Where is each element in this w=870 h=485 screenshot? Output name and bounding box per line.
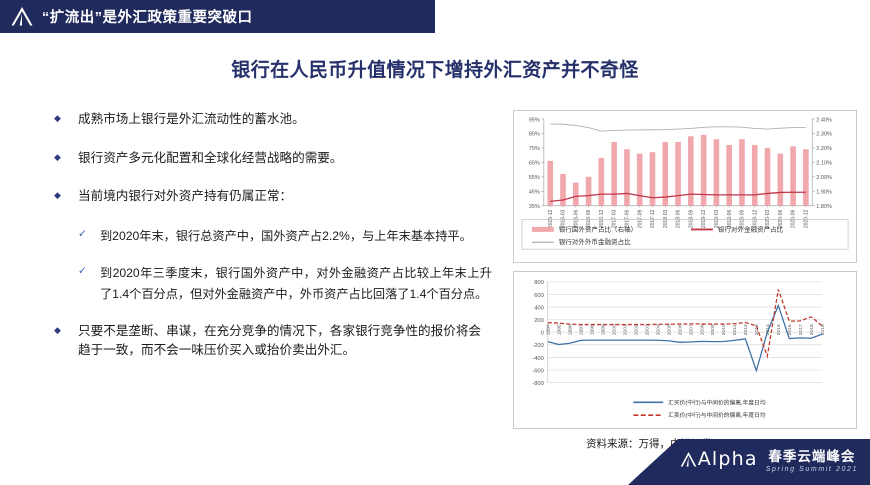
svg-text:45%: 45% <box>529 190 540 196</box>
svg-text:2017-09: 2017-09 <box>637 210 643 229</box>
chart-fx-spread-deviation: -800-600-400-200020040060080019941995199… <box>513 271 857 429</box>
chart-bottom-svg: -800-600-400-200020040060080019941995199… <box>514 272 856 428</box>
svg-text:-800: -800 <box>532 381 544 387</box>
footer-wordmark-text: Alpha <box>698 448 758 470</box>
svg-text:2017-03: 2017-03 <box>612 210 618 229</box>
footer-wordmark: Alpha <box>680 448 758 470</box>
svg-text:2016-12: 2016-12 <box>599 210 605 229</box>
svg-text:1.90%: 1.90% <box>816 190 832 196</box>
sub-list: ✓ 到2020年末，银行总资产中，国外资产占2.2%，与上年末基本持平。 ✓ 到… <box>78 226 492 306</box>
svg-text:1996: 1996 <box>568 324 574 335</box>
list-item-text: 银行资产多元化配置和全球化经营战略的需要。 <box>78 149 492 169</box>
svg-text:2015: 2015 <box>776 324 782 335</box>
svg-text:600: 600 <box>534 293 544 299</box>
svg-text:银行国外资产占比（右轴）: 银行国外资产占比（右轴） <box>559 224 637 233</box>
svg-text:85%: 85% <box>529 132 540 138</box>
sub-list-item: ✓ 到2020年三季度末，银行国外资产中，对外金融资产占比较上年末上升了1.4个… <box>78 263 492 306</box>
list-item: ◆ 成熟市场上银行是外汇流动性的蓄水池。 <box>52 110 492 130</box>
svg-text:2006: 2006 <box>677 324 683 335</box>
svg-text:1999: 1999 <box>600 324 606 335</box>
bullet-diamond-icon: ◆ <box>52 149 78 166</box>
svg-text:2020-09: 2020-09 <box>791 210 797 229</box>
svg-text:400: 400 <box>534 305 544 311</box>
svg-text:75%: 75% <box>529 146 540 152</box>
list-item: ◆ 只要不是垄断、串谋，在充分竞争的情况下，各家银行竞争性的报价将会趋于一致，而… <box>52 322 492 361</box>
list-item: ◆ 当前境内银行对外资产持有仍属正常： <box>52 187 492 207</box>
svg-text:汇卖价(中行)与中间价的偏离,年度日均: 汇卖价(中行)与中间价的偏离,年度日均 <box>668 411 766 419</box>
sub-list-item-text: 到2020年三季度末，银行国外资产中，对外金融资产占比较上年末上升了1.4个百分… <box>100 263 492 306</box>
svg-text:2009: 2009 <box>710 324 716 335</box>
svg-text:银行对外金融资产占比: 银行对外金融资产占比 <box>718 224 784 233</box>
chart-top-svg: 35%45%55%65%75%85%95%1.80%1.90%2.00%2.10… <box>514 111 856 262</box>
footer-cn-text: 春季云端峰会 <box>768 445 855 465</box>
bullet-diamond-icon: ◆ <box>52 187 78 204</box>
check-icon: ✓ <box>78 263 100 280</box>
page-title: 银行在人民币升值情况下增持外汇资产并不奇怪 <box>0 55 870 82</box>
header-title: “扩流出”是外汇政策重要突破口 <box>42 6 253 27</box>
svg-text:1998: 1998 <box>589 324 595 335</box>
svg-text:-200: -200 <box>532 343 544 349</box>
svg-text:2016: 2016 <box>787 324 793 335</box>
svg-text:2018-03: 2018-03 <box>663 210 669 229</box>
brand-logo-icon <box>0 0 42 33</box>
svg-text:2015-12: 2015-12 <box>548 210 554 229</box>
svg-text:2013: 2013 <box>754 324 760 335</box>
svg-text:2017-06: 2017-06 <box>624 210 630 229</box>
svg-text:2.00%: 2.00% <box>816 175 832 181</box>
svg-text:200: 200 <box>534 318 544 324</box>
svg-text:2012: 2012 <box>743 324 749 335</box>
svg-text:-600: -600 <box>532 368 544 374</box>
check-icon: ✓ <box>78 226 100 243</box>
sub-list-item: ✓ 到2020年末，银行总资产中，国外资产占2.2%，与上年末基本持平。 <box>78 226 492 247</box>
footer-en-text: Spring Summit 2021 <box>766 466 858 473</box>
svg-text:55%: 55% <box>529 175 540 181</box>
list-item-text: 只要不是垄断、串谋，在充分竞争的情况下，各家银行竞争性的报价将会趋于一致，而不会… <box>78 322 492 361</box>
svg-text:2005: 2005 <box>666 324 672 335</box>
svg-text:2007: 2007 <box>688 324 694 335</box>
svg-text:2016-06: 2016-06 <box>573 210 579 229</box>
svg-text:2.20%: 2.20% <box>816 146 832 152</box>
chart-bank-foreign-assets: 35%45%55%65%75%85%95%1.80%1.90%2.00%2.10… <box>513 110 857 263</box>
footer-brand: Alpha 春季云端峰会 Spring Summit 2021 <box>570 439 870 485</box>
svg-text:2004: 2004 <box>655 324 661 335</box>
svg-text:2020-12: 2020-12 <box>803 210 809 229</box>
svg-text:2.10%: 2.10% <box>816 161 832 167</box>
svg-text:1995: 1995 <box>557 324 563 335</box>
svg-text:2.40%: 2.40% <box>816 117 832 123</box>
svg-text:2019: 2019 <box>820 324 826 335</box>
svg-text:-400: -400 <box>532 356 544 362</box>
svg-text:2014: 2014 <box>765 324 771 335</box>
svg-text:2003: 2003 <box>644 324 650 335</box>
svg-text:2018: 2018 <box>809 324 815 335</box>
svg-text:1997: 1997 <box>579 324 585 335</box>
svg-text:2018-06: 2018-06 <box>676 210 682 229</box>
svg-text:2017-12: 2017-12 <box>650 210 656 229</box>
svg-text:2019-03: 2019-03 <box>714 210 720 229</box>
svg-text:2016-03: 2016-03 <box>561 210 567 229</box>
svg-text:2020-03: 2020-03 <box>765 210 771 229</box>
svg-text:2011: 2011 <box>732 324 738 335</box>
svg-text:2001: 2001 <box>622 324 628 335</box>
svg-text:800: 800 <box>534 280 544 286</box>
svg-text:汇买价(中行)与中间价的偏离,年度日均: 汇买价(中行)与中间价的偏离,年度日均 <box>668 398 766 406</box>
svg-text:1.80%: 1.80% <box>816 204 832 210</box>
list-item: ◆ 银行资产多元化配置和全球化经营战略的需要。 <box>52 149 492 169</box>
svg-text:2002: 2002 <box>633 324 639 335</box>
svg-text:2008: 2008 <box>699 324 705 335</box>
svg-text:65%: 65% <box>529 161 540 167</box>
svg-text:2018-12: 2018-12 <box>701 210 707 229</box>
svg-text:2019-09: 2019-09 <box>740 210 746 229</box>
svg-text:2010: 2010 <box>721 324 727 335</box>
list-item-text: 当前境内银行对外资产持有仍属正常： <box>78 187 492 207</box>
svg-text:1994: 1994 <box>546 324 552 335</box>
svg-text:2019-06: 2019-06 <box>727 210 733 229</box>
svg-text:2016-09: 2016-09 <box>586 210 592 229</box>
header-bar: “扩流出”是外汇政策重要突破口 <box>0 0 435 33</box>
svg-text:0: 0 <box>541 331 544 337</box>
list-item-text: 成熟市场上银行是外汇流动性的蓄水池。 <box>78 110 492 130</box>
svg-text:2020-06: 2020-06 <box>778 210 784 229</box>
sub-list-item-text: 到2020年末，银行总资产中，国外资产占2.2%，与上年末基本持平。 <box>100 226 492 247</box>
bullet-diamond-icon: ◆ <box>52 110 78 127</box>
triangle-a-logo-icon <box>680 451 697 468</box>
svg-text:95%: 95% <box>529 117 540 123</box>
svg-text:银行对外外币金融资占比: 银行对外外币金融资占比 <box>559 237 631 246</box>
svg-text:2018-09: 2018-09 <box>688 210 694 229</box>
svg-text:35%: 35% <box>529 204 540 210</box>
svg-text:2.30%: 2.30% <box>816 132 832 138</box>
bullet-diamond-icon: ◆ <box>52 322 78 339</box>
svg-text:2019-12: 2019-12 <box>752 210 758 229</box>
content-body: ◆ 成熟市场上银行是外汇流动性的蓄水池。 ◆ 银行资产多元化配置和全球化经营战略… <box>52 110 492 380</box>
svg-text:2017: 2017 <box>798 324 804 335</box>
svg-text:2000: 2000 <box>611 324 617 335</box>
